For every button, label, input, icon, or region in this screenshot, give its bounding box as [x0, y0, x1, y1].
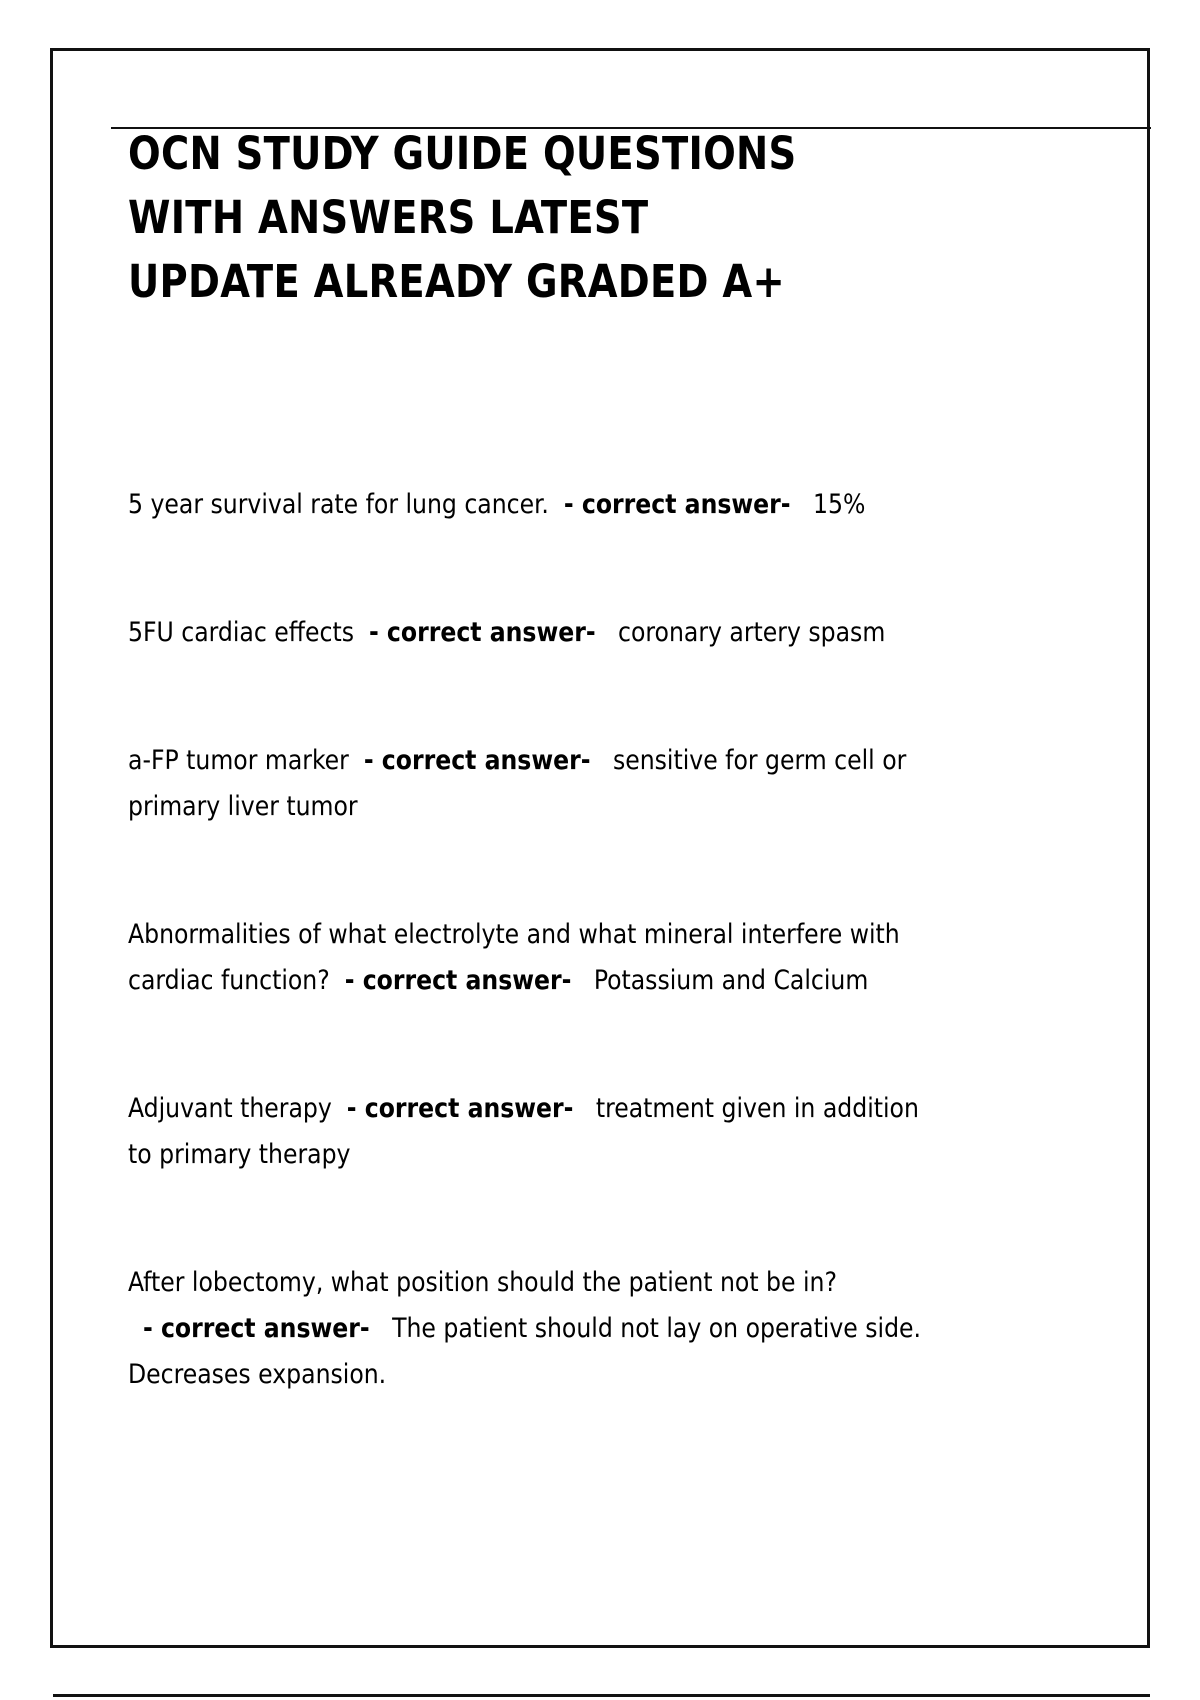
footer-divider — [53, 1694, 1150, 1697]
spacer — [791, 489, 813, 520]
spacer — [370, 1313, 392, 1344]
spacer — [571, 965, 593, 996]
correct-answer-label: - correct answer- — [143, 1313, 370, 1344]
qa-entry-4: Abnormalities of what electrolyte and wh… — [128, 912, 948, 1004]
correct-answer-label: - correct answer- — [369, 617, 596, 648]
qa-entry-1: 5 year survival rate for lung cancer. - … — [128, 482, 948, 528]
qa-entry-3: a-FP tumor marker - correct answer- sens… — [128, 738, 948, 830]
spacer — [354, 617, 369, 648]
qa-question: a-FP tumor marker — [128, 745, 349, 776]
correct-answer-label: - correct answer- — [347, 1093, 574, 1124]
qa-answer: Potassium and Calcium — [594, 965, 868, 996]
page-title: OCN STUDY GUIDE QUESTIONS WITH ANSWERS L… — [128, 122, 931, 314]
qa-list: 5 year survival rate for lung cancer. - … — [128, 482, 973, 1398]
qa-answer: 15% — [813, 489, 865, 520]
qa-entry-6: After lobectomy, what position should th… — [128, 1260, 948, 1398]
spacer — [573, 1093, 595, 1124]
correct-answer-label: - correct answer- — [564, 489, 791, 520]
qa-entry-5: Adjuvant therapy - correct answer- treat… — [128, 1086, 948, 1178]
qa-question: 5 year survival rate for lung cancer. — [128, 489, 549, 520]
spacer — [332, 1093, 347, 1124]
spacer — [596, 617, 618, 648]
qa-question: 5FU cardiac effects — [128, 617, 354, 648]
qa-question: After lobectomy, what position should th… — [128, 1267, 837, 1298]
spacer — [349, 745, 364, 776]
spacer — [590, 745, 612, 776]
spacer — [549, 489, 564, 520]
correct-answer-label: - correct answer- — [364, 745, 591, 776]
qa-question: Adjuvant therapy — [128, 1093, 332, 1124]
document-content: OCN STUDY GUIDE QUESTIONS WITH ANSWERS L… — [128, 122, 973, 1398]
spacer — [330, 965, 345, 996]
qa-entry-2: 5FU cardiac effects - correct answer- co… — [128, 610, 948, 656]
correct-answer-label: - correct answer- — [345, 965, 572, 996]
spacer — [128, 1313, 143, 1344]
qa-answer: coronary artery spasm — [618, 617, 885, 648]
